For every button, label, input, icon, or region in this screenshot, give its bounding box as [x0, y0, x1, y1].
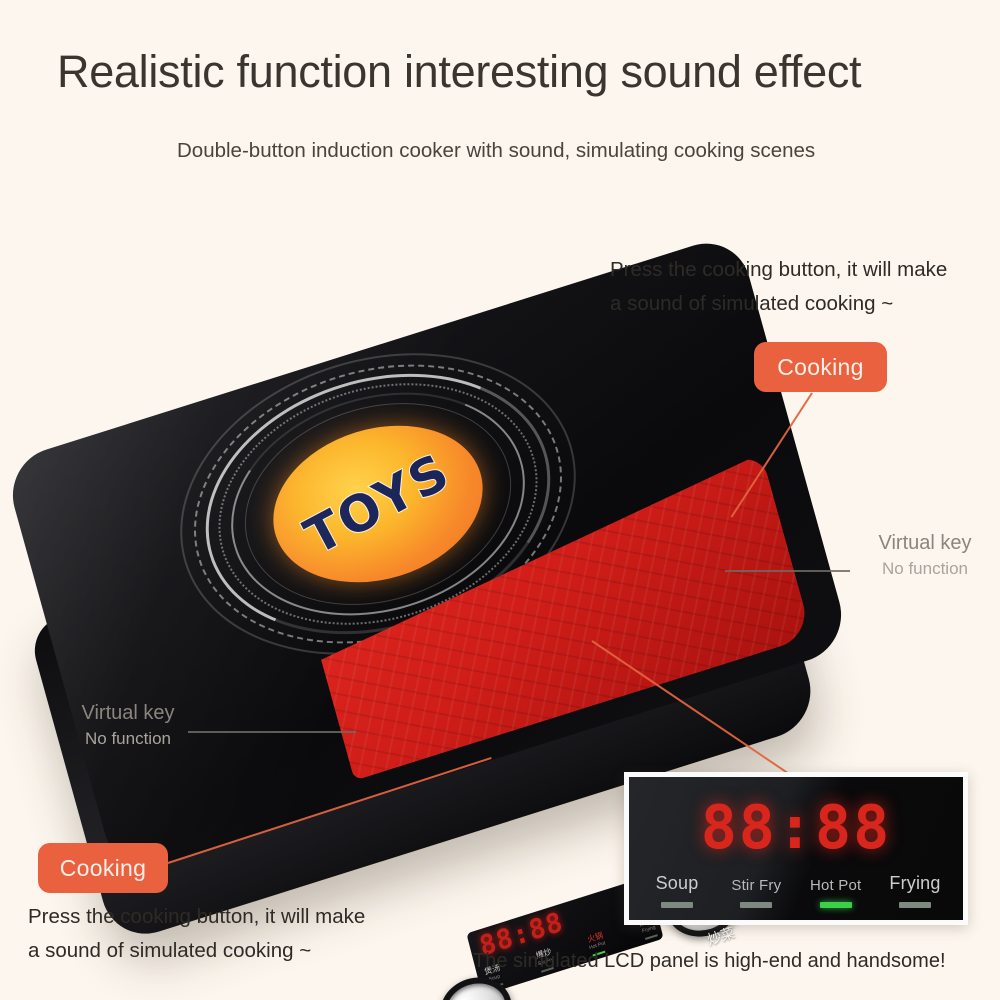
lcd-caption: The simulated LCD panel is high-end and …: [473, 950, 946, 973]
lcd-mode-stir-fry: Stir Fry: [718, 877, 794, 908]
product-marketing-image: Realistic function interesting sound eff…: [0, 0, 1000, 1000]
callout-virtual-key-left: Virtual key No function: [48, 700, 208, 752]
page-title: Realistic function interesting sound eff…: [57, 46, 957, 98]
lcd-indicator-bar: [661, 902, 693, 908]
badge-cooking-bottom[interactable]: Cooking: [38, 843, 168, 893]
virtual-key-left-title: Virtual key: [48, 700, 208, 726]
annotation-bottom-left-line2: a sound of simulated cooking ~: [28, 934, 458, 968]
leader-line-virtual-key-left: [188, 731, 356, 733]
annotation-top-right-line1: Press the cooking button, it will make: [610, 253, 1000, 287]
lcd-screen: 88:88 Soup Stir Fry Hot Pot Frying: [629, 777, 963, 920]
lcd-mode-soup: Soup: [639, 873, 715, 908]
leader-line-virtual-key-right: [725, 570, 850, 572]
lcd-mode-row: Soup Stir Fry Hot Pot Frying: [639, 873, 953, 908]
virtual-key-left-note: No function: [48, 726, 208, 752]
lcd-digits: 88:88: [629, 793, 963, 863]
lcd-zoom-inset: 88:88 Soup Stir Fry Hot Pot Frying: [624, 772, 968, 925]
page-subtitle: Double-button induction cooker with soun…: [177, 136, 837, 165]
lcd-mode-frying: Frying: [877, 873, 953, 908]
callout-virtual-key-right: Virtual key No function: [845, 530, 1000, 582]
annotation-bottom-left: Press the cooking button, it will make a…: [28, 900, 458, 968]
lcd-indicator-bar: [899, 902, 931, 908]
toys-logo-text: TOYS: [296, 442, 460, 566]
annotation-bottom-left-line1: Press the cooking button, it will make: [28, 900, 458, 934]
annotation-top-right-line2: a sound of simulated cooking ~: [610, 287, 1000, 321]
virtual-key-right-title: Virtual key: [845, 530, 1000, 556]
badge-cooking-top[interactable]: Cooking: [754, 342, 887, 392]
annotation-top-right: Press the cooking button, it will make a…: [610, 253, 1000, 321]
lcd-indicator-bar-active: [820, 902, 852, 908]
lcd-indicator-bar: [740, 902, 772, 908]
virtual-key-right-note: No function: [845, 556, 1000, 582]
lcd-mode-hot-pot: Hot Pot: [798, 877, 874, 908]
